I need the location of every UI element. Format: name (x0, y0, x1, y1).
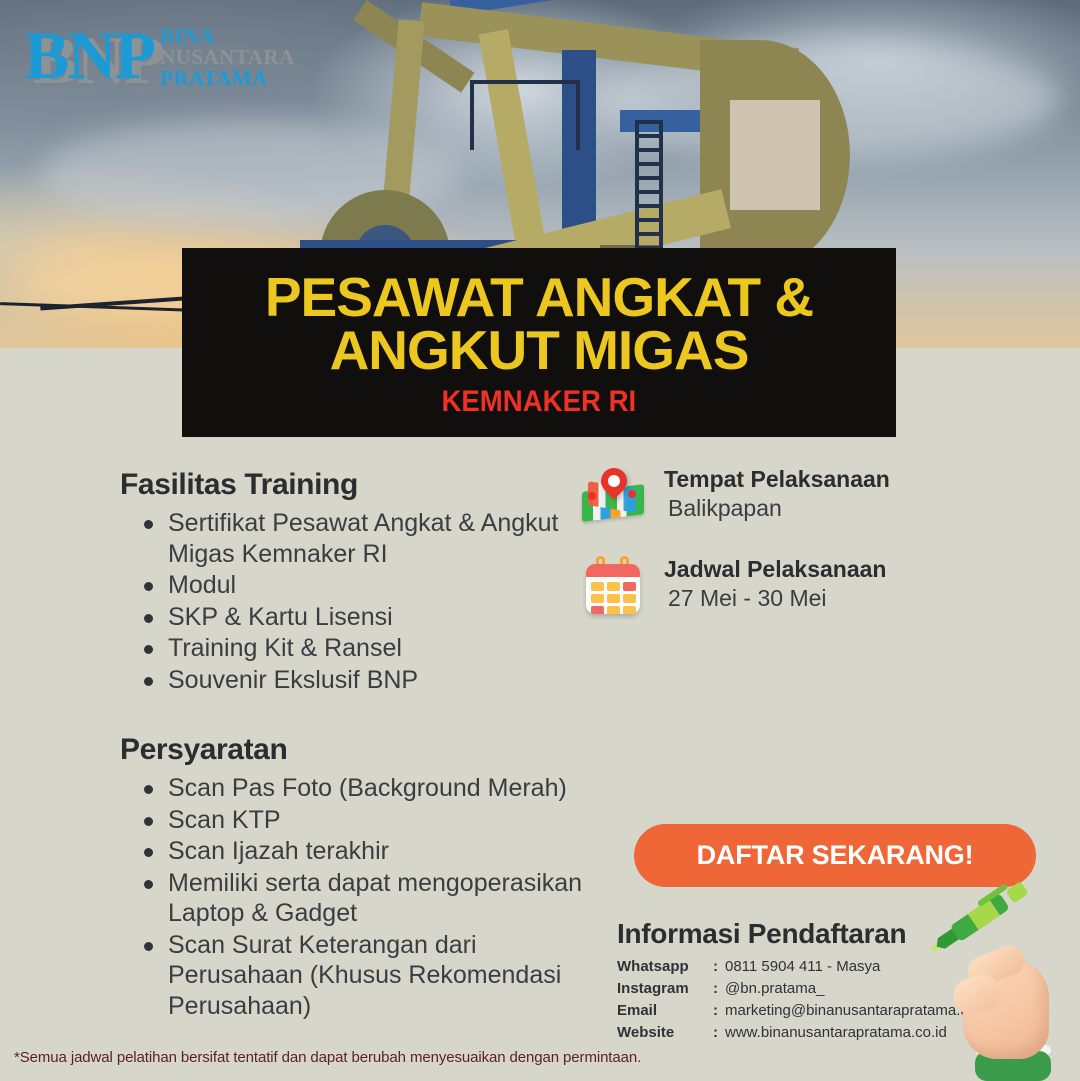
list-item: Scan Surat Keterangan dari Perusahaan (K… (138, 930, 590, 1022)
list-item: Memiliki serta dapat mengoperasikan Lapt… (138, 868, 590, 929)
info-date-value: 27 Mei - 30 Mei (668, 583, 886, 613)
list-item: Scan Pas Foto (Background Merah) (138, 773, 590, 804)
map-pin-icon (580, 466, 646, 522)
logo-wordmark: BINA NUSANTARA PRATAMA (160, 26, 295, 89)
calendar-icon (580, 556, 646, 618)
info-date: Jadwal Pelaksanaan 27 Mei - 30 Mei (580, 556, 886, 618)
register-button[interactable]: DAFTAR SEKARANG! (634, 824, 1036, 887)
logo-monogram-front: BNP (24, 17, 154, 93)
bnp-logo: BNP BNP BINA NUSANTARA PRATAMA (24, 22, 295, 92)
title-block: PESAWAT ANGKAT & ANGKUT MIGAS KEMNAKER R… (182, 248, 896, 437)
contact-label-instagram: Instagram (617, 978, 713, 1000)
contact-colon: : (713, 1000, 725, 1022)
contact-colon: : (713, 956, 725, 978)
logo-monogram: BNP BNP (24, 22, 154, 88)
pen-icon (931, 878, 1032, 955)
logo-word-bina: BINA (160, 26, 295, 47)
facilities-list: Sertifikat Pesawat Angkat & Angkut Migas… (138, 508, 590, 695)
left-column: Fasilitas Training Sertifikat Pesawat An… (120, 468, 590, 1022)
footer-disclaimer: *Semua jadwal pelatihan bersifat tentati… (14, 1049, 641, 1066)
contact-colon: : (713, 1022, 725, 1044)
hand-with-pen-icon (945, 925, 1080, 1080)
list-item: Modul (138, 570, 590, 601)
list-item: Training Kit & Ransel (138, 633, 590, 664)
logo-word-nusantara: NUSANTARA (160, 47, 295, 68)
contact-colon: : (713, 978, 725, 1000)
title-subtitle: KEMNAKER RI (442, 385, 637, 419)
title-line-2: ANGKUT MIGAS (330, 324, 749, 377)
facilities-heading: Fasilitas Training (120, 468, 590, 502)
list-item: Souvenir Ekslusif BNP (138, 665, 590, 696)
info-date-title: Jadwal Pelaksanaan (664, 556, 886, 583)
title-line-1: PESAWAT ANGKAT & (265, 271, 813, 324)
contact-label-website: Website (617, 1022, 713, 1044)
list-item: Scan KTP (138, 805, 590, 836)
requirements-list: Scan Pas Foto (Background Merah) Scan KT… (138, 773, 590, 1021)
info-place: Tempat Pelaksanaan Balikpapan (580, 466, 890, 523)
contact-label-email: Email (617, 1000, 713, 1022)
list-item: SKP & Kartu Lisensi (138, 602, 590, 633)
info-place-value: Balikpapan (668, 493, 890, 523)
list-item: Sertifikat Pesawat Angkat & Angkut Migas… (138, 508, 590, 569)
logo-word-pratama: PRATAMA (160, 68, 295, 89)
info-place-title: Tempat Pelaksanaan (664, 466, 890, 493)
list-item: Scan Ijazah terakhir (138, 836, 590, 867)
requirements-heading: Persyaratan (120, 733, 590, 767)
contact-label-whatsapp: Whatsapp (617, 956, 713, 978)
